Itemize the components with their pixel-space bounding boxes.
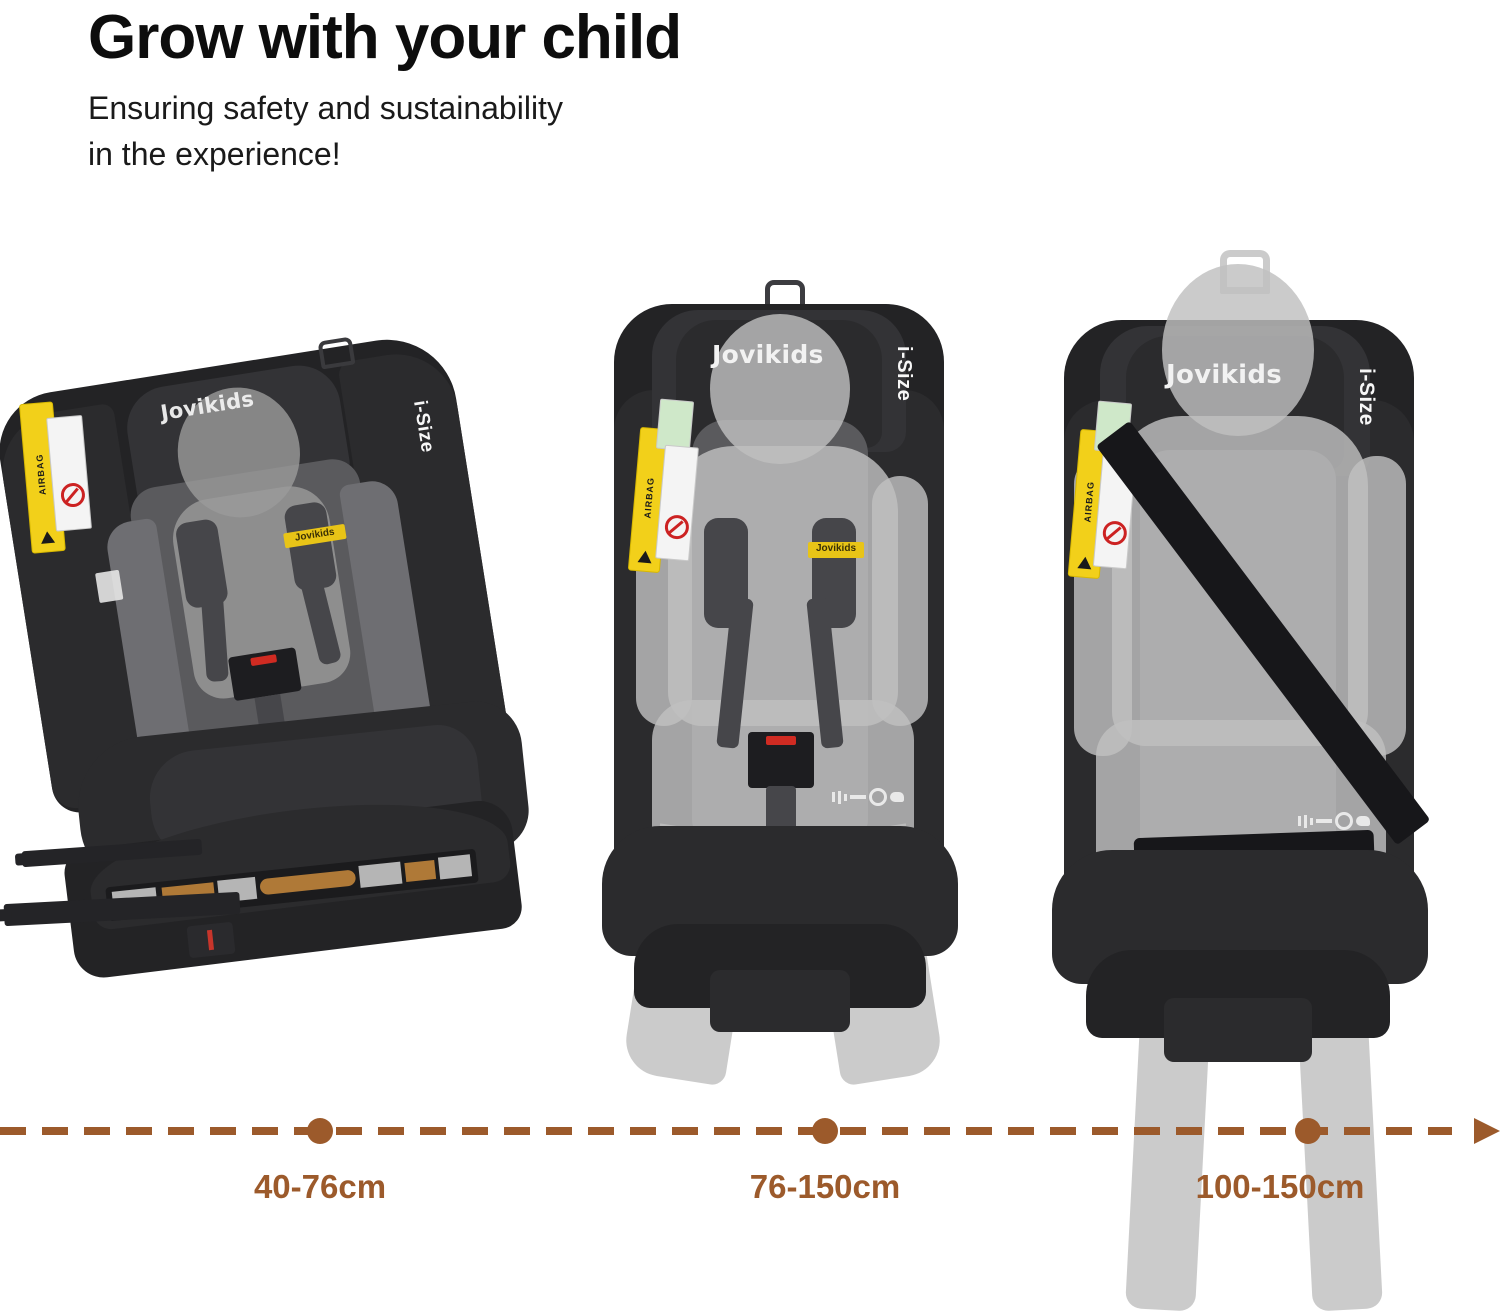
airbag-pictogram-panel [656,399,694,452]
no-rear-facing-icon [1102,520,1128,546]
brand-logo: Jovikids [712,340,824,369]
page-subtitle: Ensuring safety and sustainability in th… [88,86,1088,177]
i-size-label: i-Size [892,346,915,401]
timeline-label-2: 76-150cm [750,1168,900,1206]
car-seat-stage-3: Jovikids i-Size AIRBAG [1040,250,1440,1130]
no-rear-facing-icon [60,482,86,508]
car-seat-stage-2: Jovikids i-Size AIRBAG Jovikids [600,270,960,1110]
growth-timeline [0,1118,1500,1144]
toddler-silhouette [710,314,850,464]
timeline-marker-1 [307,1118,333,1144]
car-seat-stage-1: Jovikids i-Size AIRBAG Jovikids [0,350,560,1030]
no-rear-facing-icon [664,514,690,540]
airbag-warning-text: AIRBAG [1082,480,1096,522]
warning-triangle-icon [40,531,55,544]
product-stage: Jovikids i-Size AIRBAG Jovikids [0,250,1500,1130]
timeline-marker-3 [1295,1118,1321,1144]
timeline-marker-2 [812,1118,838,1144]
timeline-label-3: 100-150cm [1196,1168,1365,1206]
header-block: Grow with your child Ensuring safety and… [88,0,1088,177]
airbag-warning-text: AIRBAG [34,454,48,496]
subtitle-line-2: in the experience! [88,132,1088,177]
i-size-label: i-Size [1354,368,1378,426]
timeline-arrow-icon [1474,1118,1500,1144]
timeline-dashed-line [0,1127,1452,1135]
page-title: Grow with your child [88,0,1088,70]
subtitle-line-1: Ensuring safety and sustainability [88,86,1088,131]
growth-timeline-labels: 40-76cm 76-150cm 100-150cm [0,1168,1500,1208]
feature-pictograms [1298,812,1370,830]
brand-logo: Jovikids [1166,360,1282,390]
airbag-warning-text: AIRBAG [642,477,656,519]
warning-triangle-icon [1077,556,1092,569]
warning-triangle-icon [638,550,653,563]
feature-pictograms [832,788,904,806]
timeline-label-1: 40-76cm [254,1168,386,1206]
harness-pad-label: Jovikids [808,542,864,558]
